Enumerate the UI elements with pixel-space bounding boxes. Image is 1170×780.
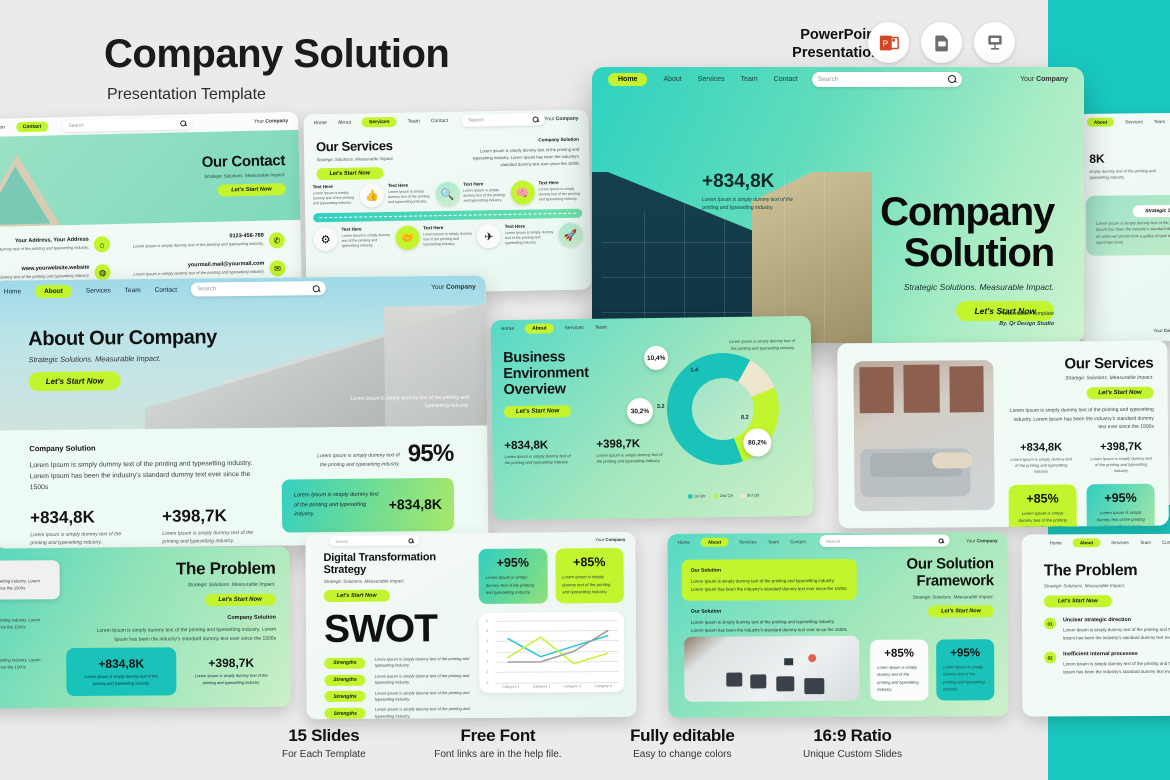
format-icon-row: P: [868, 22, 1015, 63]
nav-item-contact[interactable]: Contact: [1162, 539, 1170, 544]
nav-item-about-active[interactable]: About: [525, 323, 554, 333]
about-hero-photo: Home About Services Team Contact Search …: [0, 275, 487, 430]
strategic-solutions-pill[interactable]: Strategic Solutions: [1133, 204, 1170, 217]
nav-item-home[interactable]: Home: [4, 288, 21, 295]
donut-slice-label-3: 8.2: [741, 415, 749, 421]
brand-label: Your Company: [544, 115, 578, 122]
brand-label: Your Company: [966, 538, 998, 543]
contact-title: Our Contact: [202, 152, 286, 171]
problem2-item[interactable]: 01 Unclear strategic directionLorem Ipsu…: [1044, 617, 1170, 642]
hero-title-line1: Company: [880, 192, 1054, 233]
problem2-item-number: 01: [1044, 617, 1056, 629]
service-card[interactable]: Text HereLorem Ipsum is simply dummy tex…: [463, 181, 507, 204]
nav-item-services[interactable]: Services: [1111, 540, 1129, 545]
swot-title: Digital Transformation Strategy: [323, 551, 473, 576]
home-icon: ⌂: [94, 236, 110, 252]
problem1-stat-2: +398,7K: [190, 656, 272, 671]
brand-label: Your Company: [595, 536, 625, 541]
nav-item-team[interactable]: Team: [595, 324, 607, 330]
slide-business-environment-overview[interactable]: Home About Services Team Business Enviro…: [491, 316, 814, 520]
problem2-item[interactable]: 02 Inefficient internal processesLorem I…: [1044, 651, 1170, 676]
brand-label: Your Company: [254, 118, 288, 125]
nav-item-contact[interactable]: Contact: [155, 286, 177, 293]
problem2-item-number: 02: [1044, 652, 1056, 664]
problem2-title: The Problem: [1044, 562, 1170, 581]
services2-stat-2-note: Lorem Ipsum is simply dummy text of the …: [1088, 455, 1154, 475]
problem1-stat-1: +834,8K: [80, 657, 162, 672]
problem2-subtitle: Strategic Solutions. Measurable Impact.: [1044, 583, 1170, 589]
about-cta-button[interactable]: Let's Start Now: [29, 371, 121, 391]
swot-row[interactable]: StrengthsLorem Ipsum is simply dummy tex…: [324, 690, 474, 704]
slide-the-problem-left[interactable]: Poor performance tracking Lorem Ipsum is…: [0, 547, 291, 710]
nav-item-team[interactable]: Team: [768, 539, 779, 544]
solution-block-plain: Our Solution Lorem Ipsum is simply dummy…: [682, 600, 857, 634]
search-icon: [180, 120, 186, 126]
slide-hero-company-solution[interactable]: Home About Services Team Contact Search …: [592, 67, 1084, 343]
business-cta-button[interactable]: Let's Start Now: [504, 405, 572, 418]
about-highlight-box: Lorem Ipsum is simply dummy text of the …: [282, 478, 454, 533]
navbar: Search Your Company: [305, 532, 635, 548]
donut-bubble-3: 80,2%: [743, 428, 771, 456]
head-idea-icon: 🧠: [510, 180, 534, 204]
about-photo-overlay-text: Lorem Ipsum is simply dummy text of the …: [339, 394, 469, 411]
problem1-title: The Problem: [86, 559, 276, 580]
handshake-icon: 🤝: [395, 225, 419, 249]
nav-item-services[interactable]: Services: [1125, 119, 1143, 124]
solution-title-line2: Framework: [859, 573, 994, 591]
contact-stat-1: ,8K: [0, 147, 1, 160]
contact-item-note: Lorem Ipsum is simply dummy text of the …: [122, 241, 264, 250]
legend-item: 1st Qtr: [688, 493, 706, 498]
swot-card-85[interactable]: +85%Lorem Ipsum is simply dummy text of …: [555, 548, 624, 603]
services2-subtitle: Strategic Solutions. Measurable Impact.: [1007, 375, 1153, 382]
nav-item-services-active[interactable]: Services: [362, 116, 397, 127]
open-office-photo: [684, 636, 859, 702]
problem1-stat-box: +834,8K Lorem Ipsum is simply dummy text…: [66, 648, 176, 697]
feature-item: 16:9 Ratio Unique Custom Slides: [803, 726, 902, 760]
search-plus-icon: 🔍: [435, 182, 459, 206]
phone-icon: ✆: [269, 232, 285, 248]
nav-items: Home About Services Team Contact: [1050, 537, 1170, 547]
nav-item-home[interactable]: Home: [501, 325, 514, 331]
brand-label: Your Company: [1153, 328, 1170, 333]
nav-item-team[interactable]: Team: [741, 76, 758, 83]
services-cta-button[interactable]: Let's Start Now: [316, 167, 383, 180]
page-subtitle: Presentation Template: [107, 86, 266, 104]
solution-card-85[interactable]: +85%Lorem Ipsum is simply dummy text of …: [870, 640, 928, 701]
search-icon: [939, 538, 944, 543]
nav-item-team[interactable]: Team: [408, 118, 420, 124]
mail-icon: ✉: [269, 260, 285, 276]
search-placeholder: Search: [818, 76, 839, 83]
donut-chart: Lorem Ipsum is simply dummy text of the …: [644, 338, 801, 495]
problem2-cta-button[interactable]: Let's Start Now: [1044, 595, 1112, 607]
nav-item-services[interactable]: Services: [739, 539, 757, 544]
navbar: Home About Services Team Contact Search …: [668, 532, 1008, 550]
nav-item-team[interactable]: Team: [125, 287, 141, 294]
service-card[interactable]: Text HereLorem Ipsum is simply dummy tex…: [538, 180, 582, 203]
hero-subtitle: Strategic Solutions. Measurable Impact.: [880, 282, 1054, 292]
slide-our-contact[interactable]: About Services Team Contact Search Your …: [0, 112, 302, 295]
nav-item-team[interactable]: Team: [0, 124, 5, 130]
services-side-text: Lorem Ipsum is simply dummy text of the …: [459, 146, 580, 170]
problem-list: Poor performance tracking Lorem Ipsum is…: [0, 560, 60, 679]
navbar: Home About Services Team: [491, 316, 811, 337]
nav-items: Home About Services Team Contact: [608, 73, 798, 86]
topright-body: Lorem Ipsum is simply dummy text of the …: [1096, 219, 1170, 246]
services-side-heading: Company Solution: [458, 137, 579, 144]
problem-item[interactable]: Misalignment between departments Lorem I…: [0, 639, 60, 680]
hero-credit-line1: Presentation Template: [999, 310, 1054, 319]
slide-about-our-company[interactable]: Home About Services Team Contact Search …: [0, 275, 488, 548]
poster-stage: Company Solution Presentation Template P…: [0, 0, 1170, 780]
feature-item: Free Font Font links are in the help fil…: [434, 726, 561, 760]
solution-card-95[interactable]: +95%Lorem Ipsum is simply dummy text of …: [936, 639, 994, 700]
solution-headline: Our Solution Framework Strategic Solutio…: [859, 556, 994, 617]
contact-item-note: Lorem Ipsum is simply dummy text of the …: [0, 245, 89, 254]
nav-item-home[interactable]: Home: [1050, 540, 1062, 545]
service-card[interactable]: Text HereLorem Ipsum is simply dummy tex…: [341, 226, 391, 249]
hero-stat-note: Lorem Ipsum is simply dummy text of the …: [702, 196, 802, 212]
line-chart-x-labels: Category 1 Category 2 Category 3 Categor…: [495, 684, 618, 689]
services-timeline-bar: [313, 209, 582, 223]
contact-item[interactable]: 0123-456-789Lorem Ipsum is simply dummy …: [116, 228, 291, 256]
services-title: Our Services: [316, 137, 437, 154]
about-headline-block: About Our Company Strategic Solutions. M…: [28, 326, 217, 391]
contact-item[interactable]: Your Address, Your AddressLorem Ipsum is…: [0, 232, 116, 260]
search-icon: [408, 538, 413, 543]
swot-row[interactable]: StrengthsLorem Ipsum is simply dummy tex…: [325, 706, 475, 719]
hero-stat-value: +834,8K: [702, 171, 802, 193]
hero-stat: +834,8K Lorem Ipsum is simply dummy text…: [702, 171, 802, 212]
nav-item-about-active[interactable]: About: [35, 284, 72, 297]
navbar: About Services Team: [1077, 112, 1170, 130]
donut-bubble-2: 30,2%: [627, 398, 653, 424]
nav-items: Home About Services Team Contact: [4, 283, 178, 298]
format-label-line1: PowerPoint: [792, 26, 880, 44]
rocket-icon: 🚀: [558, 223, 582, 247]
donut-slice-label-1: 1.4: [690, 367, 698, 373]
solution-text-blocks: Our Solution Lorem Ipsum is simply dummy…: [682, 559, 857, 635]
line-chart-plot: 6 5 4 3 2 1 0: [495, 620, 618, 683]
contact-subtitle: Strategic Solutions. Measurable Impact.: [202, 172, 285, 179]
nav-item-contact[interactable]: Contact: [774, 76, 798, 83]
search-input[interactable]: Search: [329, 535, 419, 546]
legend-item: 3rd Qtr: [741, 493, 760, 498]
about-stats: +834,8KLorem Ipsum is simply dummy text …: [30, 505, 262, 546]
search-placeholder: Search: [68, 123, 84, 129]
business-title-line3: Overview: [503, 380, 653, 398]
services2-card-85[interactable]: +85%Lorem Ipsum is simply dummy text of …: [1008, 484, 1076, 528]
donut-legend: 1st Qtr 2nd Qtr 3rd Qtr: [688, 493, 760, 499]
hero-credit: Presentation Template By. Qr Design Stud…: [999, 310, 1054, 329]
problem1-stat-1-note: Lorem Ipsum is simply dummy text of the …: [80, 674, 162, 687]
about-section-heading: Company Solution: [29, 442, 261, 453]
contact-cta-button[interactable]: Let's Start Now: [217, 183, 286, 197]
swot-row[interactable]: StrengthsLorem Ipsum is simply dummy tex…: [324, 673, 474, 687]
problem1-stat-2-note: Lorem Ipsum is simply dummy text of the …: [190, 673, 272, 686]
nav-item-about-active[interactable]: About: [701, 537, 728, 546]
about-stat-1: +834,8K: [30, 507, 122, 528]
about-body: Company Solution Lorem Ipsum is simply d…: [0, 425, 488, 548]
nav-item-services[interactable]: Services: [564, 324, 583, 330]
swot-right: +95%Lorem Ipsum is simply dummy text of …: [478, 548, 624, 693]
nav-items: About Services Team: [1087, 117, 1165, 127]
nav-item-contact-active[interactable]: Contact: [16, 121, 49, 132]
contact-item-note: Lorem Ipsum is simply dummy text of the …: [123, 269, 265, 278]
contact-stat-2: ,7K: [0, 181, 2, 194]
search-icon: [313, 285, 320, 292]
topright-stat-1: 8K: [1089, 151, 1161, 166]
services2-cta-button[interactable]: Let's Start Now: [1086, 387, 1154, 400]
search-input[interactable]: Search: [462, 113, 544, 126]
brand-label: Your Company: [431, 283, 476, 290]
services2-stat-1: +834,8K: [1008, 441, 1074, 454]
problem1-body: Lorem Ipsum is simply dummy text of the …: [86, 626, 276, 644]
svg-text:P: P: [882, 39, 888, 48]
about-box-stat: +834,8K: [389, 496, 442, 513]
nav-item-services[interactable]: Services: [698, 76, 725, 83]
nav-items: Home About Services Team Contact: [314, 115, 449, 127]
business-stats: +834,8KLorem Ipsum is simply dummy text …: [504, 438, 664, 467]
slide-strategic-solutions[interactable]: About Services Team 8Ksimply dummy text …: [1077, 112, 1170, 342]
format-label-line2: Presentation: [792, 44, 880, 62]
swot-left: Digital Transformation Strategy Strategi…: [323, 551, 474, 719]
about-body-text: Lorem Ipsum is simply dummy text of the …: [29, 458, 261, 494]
donut-slice-label-2: 3.2: [657, 404, 665, 410]
google-slides-icon[interactable]: [921, 22, 962, 63]
problem1-heading: Company Solution: [86, 615, 276, 622]
keynote-icon[interactable]: [974, 22, 1015, 63]
services-top-row: Text HereLorem Ipsum is simply dummy tex…: [305, 180, 590, 209]
contact-stat-2-note: simply dummy text of the printing and ty…: [0, 195, 2, 209]
slide-the-problem-right[interactable]: Home About Services Team Contact The Pro…: [1022, 533, 1170, 716]
search-placeholder: Search: [468, 117, 484, 123]
page-title: Company Solution: [104, 32, 449, 77]
services2-stat-2: +398,7K: [1088, 440, 1154, 453]
nav-item-about[interactable]: About: [663, 76, 681, 83]
nav-item-contact[interactable]: Contact: [790, 539, 806, 544]
gear-sun-icon: ⚙: [313, 227, 337, 251]
solution-subtitle: Strategic Solutions. Measurable Impact.: [859, 594, 994, 600]
services-subtitle: Strategic Solutions. Measurable Impact.: [316, 155, 437, 162]
swot-card-95[interactable]: +95%Lorem Ipsum is simply dummy text of …: [478, 548, 547, 603]
problem2-content: The Problem Strategic Solutions. Measura…: [1022, 549, 1170, 676]
about-stat-2-note: Lorem Ipsum is simply dummy text of the …: [162, 528, 254, 545]
nav-item-services[interactable]: Services: [86, 287, 111, 294]
topright-stats: 8Ksimply dummy text of the printing and …: [1077, 128, 1170, 182]
slide-our-services-timeline[interactable]: Home About Services Team Contact Search …: [303, 110, 591, 295]
navbar: Home About Services Team Contact: [1022, 533, 1170, 550]
problem-headline: The Problem Strategic Solutions. Measura…: [86, 559, 277, 644]
search-input[interactable]: Search: [812, 72, 962, 87]
problem1-stats: +834,8K Lorem Ipsum is simply dummy text…: [66, 647, 276, 696]
topright-panel: Strategic Solutions Lorem Ipsum is simpl…: [1086, 194, 1170, 256]
nav-item-team[interactable]: Team: [1140, 539, 1151, 544]
business-stat-1-note: Lorem Ipsum is simply dummy text of the …: [504, 453, 572, 467]
swot-line-chart: 6 5 4 3 2 1 0 Category 1 Category 2: [479, 612, 625, 693]
services2-cards: +85%Lorem Ipsum is simply dummy text of …: [1008, 483, 1154, 528]
problem-item[interactable]: Poor performance tracking Lorem Ipsum is…: [0, 560, 60, 601]
nav-item-home[interactable]: Home: [678, 539, 690, 544]
donut-note: Lorem Ipsum is simply dummy text of the …: [723, 338, 795, 353]
services-bottom-row: ⚙ Text HereLorem Ipsum is simply dummy t…: [305, 223, 590, 252]
about-subtitle: Strategic Solutions. Measurable Impact.: [28, 353, 217, 364]
solution-cards: +85%Lorem Ipsum is simply dummy text of …: [870, 639, 994, 700]
nav-items: Home About Services Team: [501, 322, 607, 333]
swot-rows: StrengthsLorem Ipsum is simply dummy tex…: [324, 656, 474, 719]
nav-item-home[interactable]: Home: [314, 120, 327, 126]
services2-stat-1-note: Lorem Ipsum is simply dummy text of the …: [1008, 456, 1074, 476]
services2-content: Our Services Strategic Solutions. Measur…: [1007, 355, 1155, 529]
about-percentage-block: Lorem Ipsum is simply dummy text of the …: [281, 440, 453, 470]
search-placeholder: Search: [335, 538, 348, 543]
search-placeholder: Search: [826, 538, 841, 543]
slide-swot[interactable]: Search Your Company Digital Transformati…: [305, 532, 636, 719]
brand-label: Your Company: [1020, 76, 1068, 83]
about-pct-note: Lorem Ipsum is simply dummy text of the …: [315, 451, 400, 469]
about-stat-2: +398,7K: [162, 505, 254, 526]
topright-stat-1-note: simply dummy text of the printing and ty…: [1089, 168, 1161, 182]
problem-item[interactable]: Limited innovation capacity Lorem Ipsum …: [0, 599, 60, 640]
search-icon: [948, 75, 956, 83]
building-shape-b: [0, 165, 50, 225]
powerpoint-icon[interactable]: P: [868, 22, 909, 63]
about-title: About Our Company: [28, 326, 217, 351]
nav-item-contact[interactable]: Contact: [431, 117, 448, 123]
search-input[interactable]: Search: [191, 281, 326, 296]
services2-stats: +834,8KLorem Ipsum is simply dummy text …: [1008, 440, 1154, 475]
problem1-stat-plain: +398,7K Lorem Ipsum is simply dummy text…: [186, 647, 276, 695]
swot-row[interactable]: StrengthsLorem Ipsum is simply dummy tex…: [324, 656, 474, 670]
swot-cta-button[interactable]: Let's Start Now: [324, 590, 390, 602]
legend-item: 2nd Qtr: [714, 493, 733, 498]
solution-cta-button[interactable]: Let's Start Now: [928, 605, 994, 617]
hero-headline-block: Company Solution Strategic Solutions. Me…: [880, 192, 1054, 321]
office-lounge-photo: [853, 360, 994, 511]
navbar: Home About Services Team Contact Search …: [592, 67, 1084, 91]
format-label: PowerPoint Presentation: [792, 26, 880, 62]
services2-title: Our Services: [1007, 355, 1153, 373]
nav-items: About Services Team Contact: [0, 121, 48, 133]
swot-big-word: SWOT: [324, 609, 474, 649]
paper-plane-icon: ✈: [477, 224, 501, 248]
swot-cards: +95%Lorem Ipsum is simply dummy text of …: [478, 548, 623, 604]
nav-item-team[interactable]: Team: [1154, 119, 1165, 124]
about-stat-1-note: Lorem Ipsum is simply dummy text of the …: [30, 530, 122, 547]
thumbs-up-icon: 👍: [360, 183, 384, 207]
donut-bubble-1: 10,4%: [644, 346, 668, 370]
business-stat-1: +834,8K: [504, 439, 572, 452]
service-card[interactable]: Text HereLorem Ipsum is simply dummy tex…: [505, 223, 555, 246]
hero-title-line2: Solution: [880, 233, 1054, 274]
nav-items: Home About Services Team Contact: [678, 537, 806, 547]
feature-item: Fully editable Easy to change colors: [630, 726, 734, 760]
nav-item-home-active[interactable]: Home: [608, 73, 647, 86]
search-icon: [532, 116, 538, 122]
globe-icon: ◍: [94, 264, 110, 280]
service-card[interactable]: Text HereLorem Ipsum is simply dummy tex…: [313, 184, 357, 207]
slide-our-services-photo[interactable]: Our Services Strategic Solutions. Measur…: [837, 341, 1169, 529]
solution-title-line1: Our Solution: [859, 556, 994, 574]
services2-card-95[interactable]: +95%Lorem Ipsum is simply dummy text of …: [1086, 483, 1154, 528]
about-box-text: Lorem Ipsum is simply dummy text of the …: [294, 491, 381, 521]
navbar: Home About Services Team Contact Search …: [0, 275, 486, 302]
hero-credit-line2: By. Qr Design Studio: [999, 321, 1054, 327]
problem1-cta-button[interactable]: Let's Start Now: [204, 594, 276, 606]
search-input[interactable]: Search: [62, 117, 192, 132]
nav-item-about[interactable]: About: [338, 119, 351, 125]
search-placeholder: Search: [197, 286, 216, 292]
feature-strip: 15 Slides For Each Template Free Font Fo…: [282, 726, 902, 760]
slide-our-solution-framework[interactable]: Home About Services Team Contact Search …: [668, 532, 1009, 718]
about-pct-value: 95%: [408, 440, 454, 468]
feature-item: 15 Slides For Each Template: [282, 726, 366, 760]
contact-hero-photo: ,8K simply dummy text of the printing an…: [0, 130, 300, 228]
nav-item-about-active[interactable]: About: [1087, 117, 1114, 126]
solution-block-highlight: Our Solution Lorem Ipsum is simply dummy…: [682, 559, 857, 601]
services2-body: Lorem Ipsum is simply dummy text of the …: [1008, 406, 1154, 433]
nav-item-about-active[interactable]: About: [1073, 538, 1100, 547]
swot-subtitle: Strategic Solutions. Measurable Impact.: [324, 578, 474, 584]
search-input[interactable]: Search: [820, 534, 950, 547]
service-card[interactable]: Text HereLorem Ipsum is simply dummy tex…: [388, 182, 432, 205]
service-card[interactable]: Text HereLorem Ipsum is simply dummy tex…: [423, 225, 473, 248]
problem1-subtitle: Strategic Solutions. Measurable Impact.: [86, 582, 276, 589]
